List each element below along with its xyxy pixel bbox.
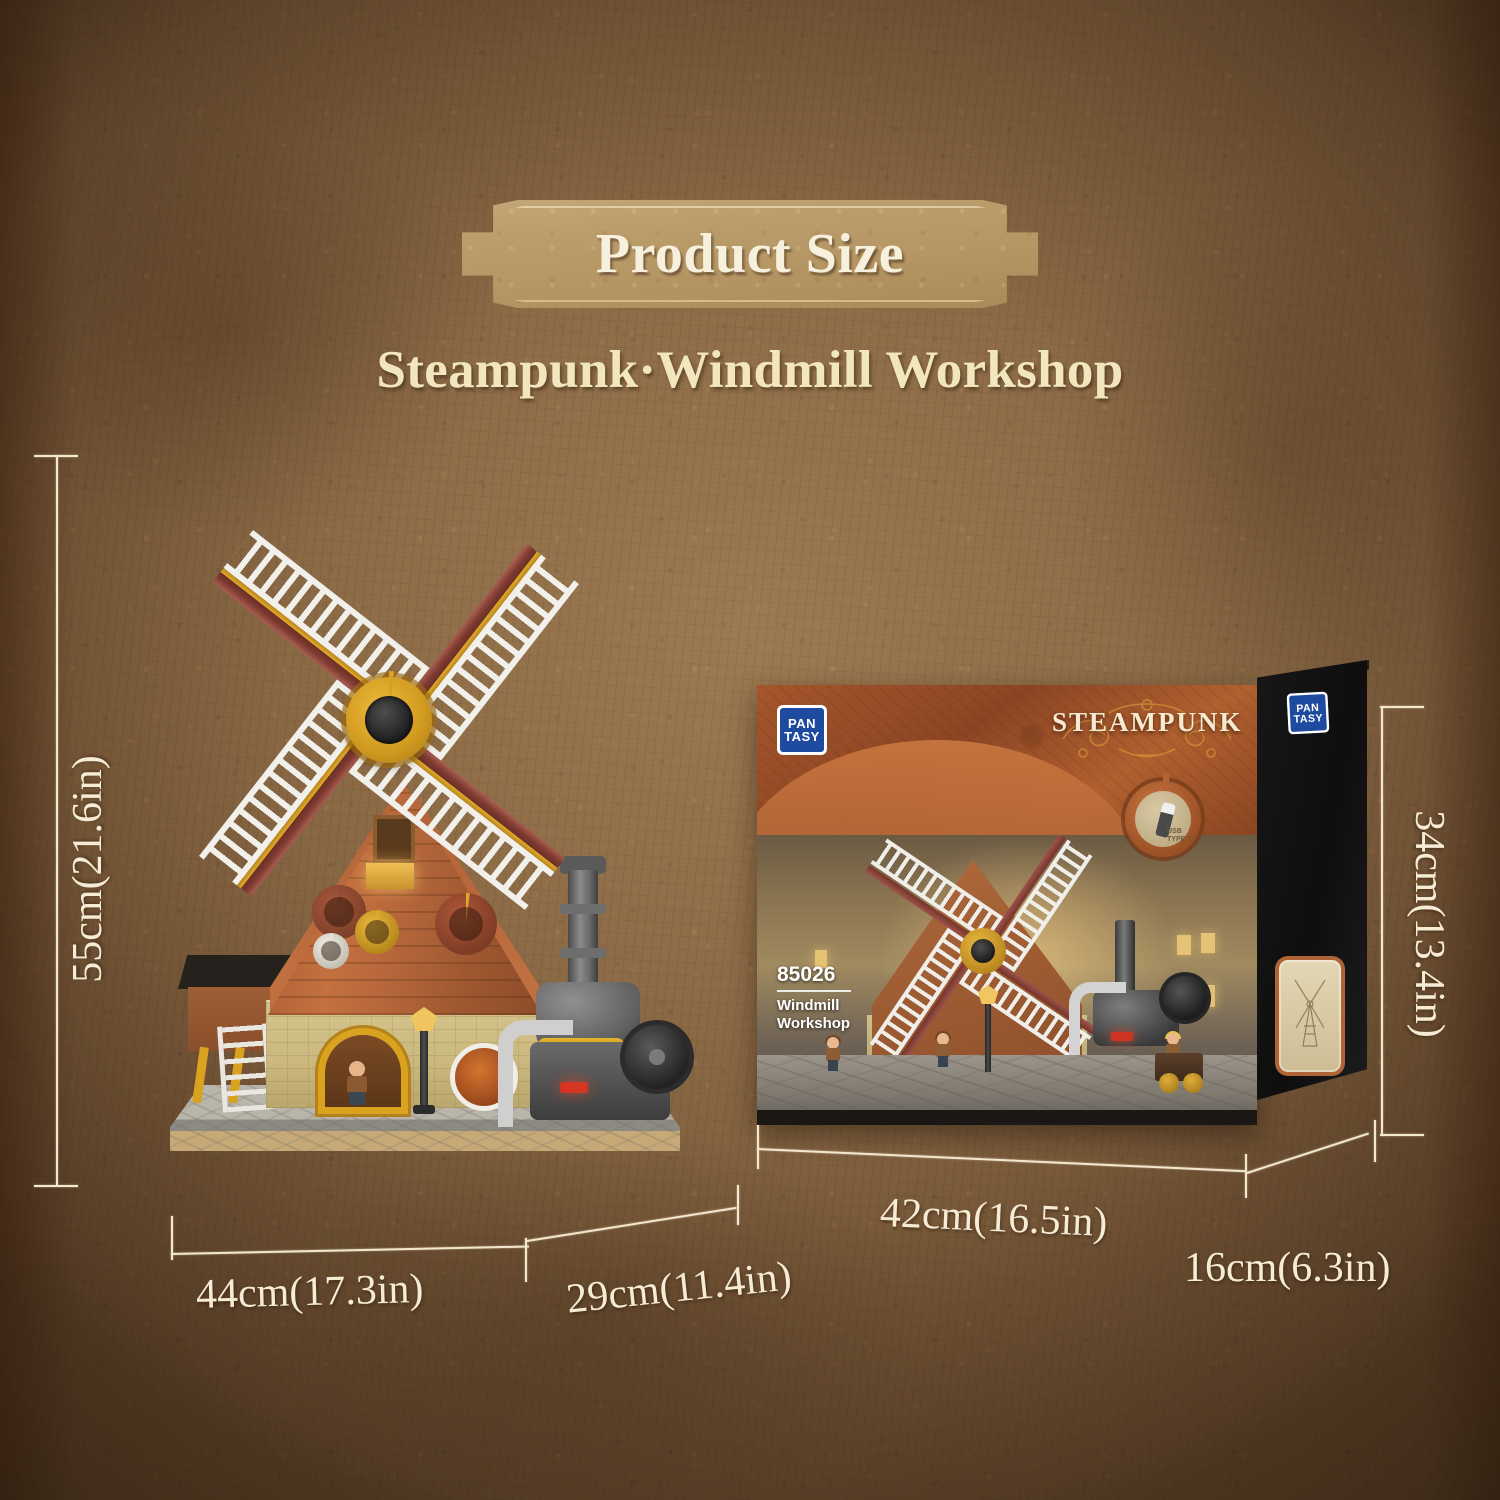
product-subtitle: Steampunk·Windmill Workshop [0,340,1500,400]
product-box-front-face: PANTASY 85026 Windmill Workshop [757,685,1257,1125]
smokestack-ring [560,904,606,914]
sku-underline [777,990,851,992]
box-art-flywheel [1159,972,1211,1024]
furnace-ember [560,1082,588,1093]
page-title: Product Size [462,200,1038,308]
box-art-hub-gear [960,928,1006,974]
flywheel [620,1020,694,1094]
roof-gear-gold [355,910,399,954]
product-name: Windmill Workshop [777,997,850,1033]
roof-gear-white [313,933,349,969]
gear-teeth [313,933,349,969]
gear-teeth [435,893,497,955]
box-art-furnace-ember [1111,1032,1133,1041]
box-height-top-tick [1380,706,1424,708]
box-depth-right-tick [1374,1120,1376,1162]
badge-text-line-2: TYPE-C [1167,836,1193,843]
minifigure-legs [828,1060,838,1071]
street-lamp-post [420,1025,428,1109]
box-width-right-tick [1245,1154,1247,1198]
windmill-sketch-icon [1289,974,1331,1050]
badge-text-line-1: USB [1167,828,1182,835]
brand-logo: PANTASY [777,705,827,755]
brand-logo-side: PANTASY [1286,691,1329,734]
box-height-bottom-tick [1380,1134,1424,1136]
gear-teeth [355,910,399,954]
lamp-base [413,1105,435,1114]
box-art-cart [1155,1053,1203,1081]
windmill-model-illustration [150,455,710,1195]
cart-wheel [1183,1073,1203,1093]
steam-machinery-assembly [520,870,690,1120]
product-box-illustration: PANTASY 85026 Windmill Workshop [757,660,1367,1130]
product-name-line-1: Windmill [777,997,839,1014]
box-height-label: 34cm(13.4in) [1405,774,1453,1074]
model-ladder [217,1023,273,1112]
box-art-lamp-post [985,1000,991,1072]
box-art-pipe [1069,982,1126,1063]
model-width-label: 44cm(17.3in) [195,1265,424,1319]
mill-dormer-window [373,815,415,863]
roof-gear-large-gold [435,893,497,955]
product-name-line-2: Workshop [777,1015,850,1032]
box-art-minifigure [935,1033,951,1067]
brand-logo-text: PANTASY [784,717,820,743]
cart-wheel [1159,1073,1179,1093]
minifigure-shopkeeper [346,1061,368,1105]
minifigure-legs [938,1056,948,1067]
side-panel-illustration-card [1279,960,1341,1072]
box-depth-label: 16cm(6.3in) [1184,1244,1390,1292]
minifigure-torso [347,1076,367,1093]
smokestack-ring [560,948,606,958]
model-height-label: 55cm(21.6in) [64,719,112,1019]
usb-type-c-badge: USB TYPE-C [1125,781,1201,857]
theme-wordmark: STEAMPUNK [1052,707,1242,738]
smokestack [568,870,598,990]
product-size-infographic: Product Size Steampunk·Windmill Workshop [0,0,1500,1500]
brand-line-2: TASY [784,729,820,744]
usb-badge-text: USB TYPE-C [1167,828,1193,844]
model-height-line [56,455,58,1185]
product-sku: 85026 [777,963,835,987]
box-art-minifigure [825,1037,841,1071]
box-width-label: 42cm(16.5in) [879,1189,1108,1247]
model-height-bottom-tick [34,1185,78,1187]
brand-logo-side-text: PANTASY [1293,702,1323,725]
product-box-side-face: PANTASY [1257,660,1367,1100]
box-width-left-tick [757,1125,759,1169]
box-height-line [1381,706,1383,1136]
brand-line-2: TASY [1293,711,1323,725]
model-width-right-tick [525,1238,527,1282]
hub-gear-teeth [340,671,438,769]
mill-lit-window [366,863,414,889]
minifigure-legs [349,1092,365,1105]
model-depth-right-tick [737,1185,739,1225]
minifigure-head [349,1061,365,1077]
windmill-hub-gear [346,677,432,763]
box-bottom-band [757,1110,1257,1125]
large-exhaust-pipe [498,1020,573,1127]
